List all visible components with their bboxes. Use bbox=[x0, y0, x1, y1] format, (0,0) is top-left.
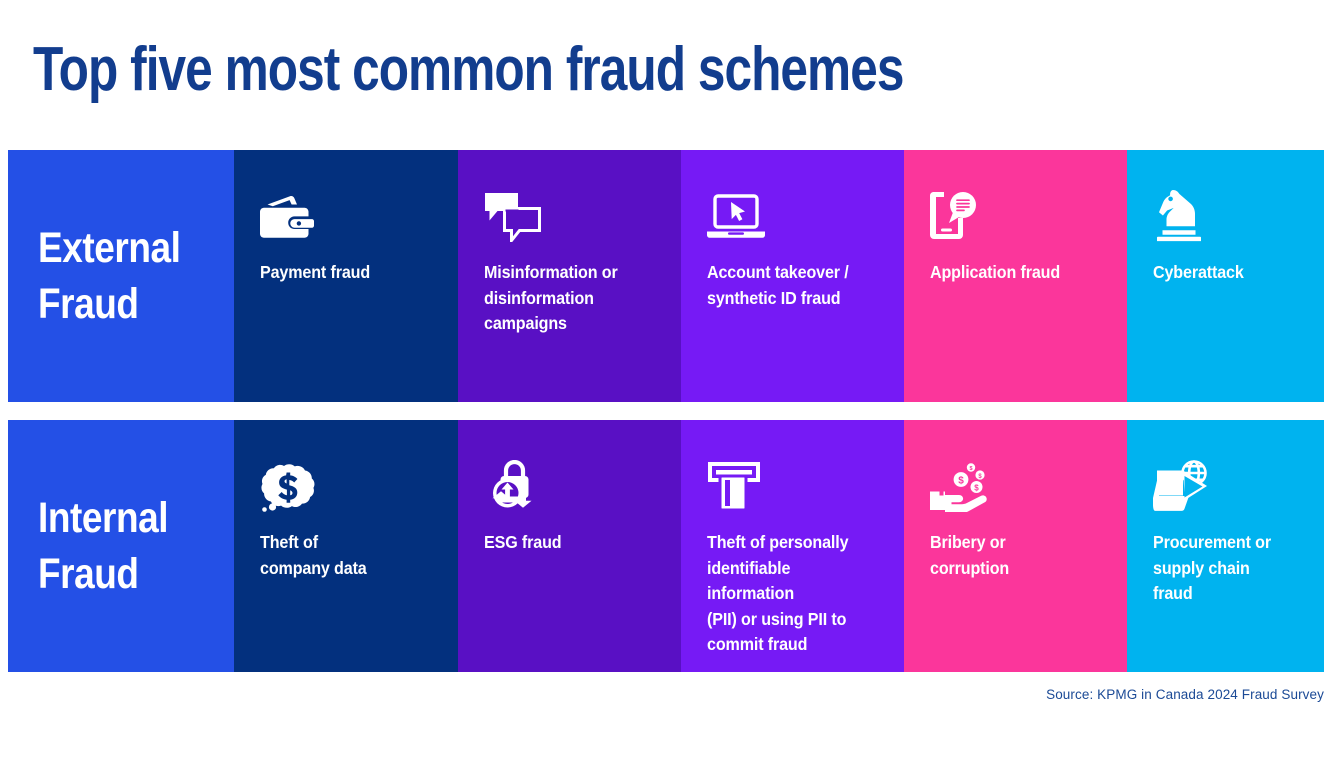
page-title: Top five most common fraud schemes bbox=[33, 36, 903, 104]
card-label: Account takeover / synthetic ID fraud bbox=[707, 260, 864, 311]
card-theft-pii[interactable]: Theft of personally identifiable informa… bbox=[681, 420, 904, 672]
infographic-page: Top five most common fraud schemes Exter… bbox=[0, 0, 1332, 767]
row-label-text: External Fraud bbox=[38, 220, 181, 332]
svg-text:$: $ bbox=[958, 476, 964, 487]
chess-knight-icon bbox=[1153, 188, 1298, 242]
card-cyberattack[interactable]: Cyberattack bbox=[1127, 150, 1324, 402]
source-caption: Source: KPMG in Canada 2024 Fraud Survey bbox=[1046, 687, 1324, 702]
phone-message-icon bbox=[930, 188, 1101, 242]
card-application-fraud[interactable]: Application fraud bbox=[904, 150, 1127, 402]
speech-bubbles-icon bbox=[484, 188, 655, 242]
wallet-icon bbox=[260, 188, 432, 242]
card-theft-company-data[interactable]: Theft of company data bbox=[234, 420, 458, 672]
card-label: Application fraud bbox=[930, 260, 1087, 286]
row-label-internal: Internal Fraud bbox=[8, 420, 234, 672]
card-esg-fraud[interactable]: ESG fraud bbox=[458, 420, 681, 672]
row-label-text: Internal Fraud bbox=[38, 490, 168, 602]
card-label: Payment fraud bbox=[260, 260, 418, 286]
card-label: ESG fraud bbox=[484, 530, 641, 556]
thought-bubble-dollar-icon bbox=[260, 458, 432, 512]
row-external-fraud: External Fraud Payment fraud Misinfo bbox=[8, 150, 1324, 402]
row-label-external: External Fraud bbox=[8, 150, 234, 402]
card-label: Cyberattack bbox=[1153, 260, 1286, 286]
hand-coins-icon: $ $ $ $ bbox=[930, 458, 1101, 512]
globe-laptop-icon bbox=[1153, 458, 1298, 512]
card-account-takeover[interactable]: Account takeover / synthetic ID fraud bbox=[681, 150, 904, 402]
card-label: Theft of personally identifiable informa… bbox=[707, 530, 864, 658]
card-misinformation[interactable]: Misinformation or disinformation campaig… bbox=[458, 150, 681, 402]
card-label: Procurement or supply chain fraud bbox=[1153, 530, 1286, 607]
row-internal-fraud: Internal Fraud Theft of company data bbox=[8, 420, 1324, 672]
card-label: Bribery or corruption bbox=[930, 530, 1087, 581]
svg-text:$: $ bbox=[974, 484, 979, 493]
card-payment-fraud[interactable]: Payment fraud bbox=[234, 150, 458, 402]
card-label: Misinformation or disinformation campaig… bbox=[484, 260, 641, 337]
card-bribery-corruption[interactable]: $ $ $ $ Bribery or corruption bbox=[904, 420, 1127, 672]
laptop-cursor-icon bbox=[707, 188, 878, 242]
card-label: Theft of company data bbox=[260, 530, 418, 581]
card-procurement-supply-chain[interactable]: Procurement or supply chain fraud bbox=[1127, 420, 1324, 672]
atm-card-dispenser-icon bbox=[707, 458, 878, 512]
padlock-exchange-icon bbox=[484, 458, 655, 512]
svg-text:$: $ bbox=[969, 466, 972, 472]
